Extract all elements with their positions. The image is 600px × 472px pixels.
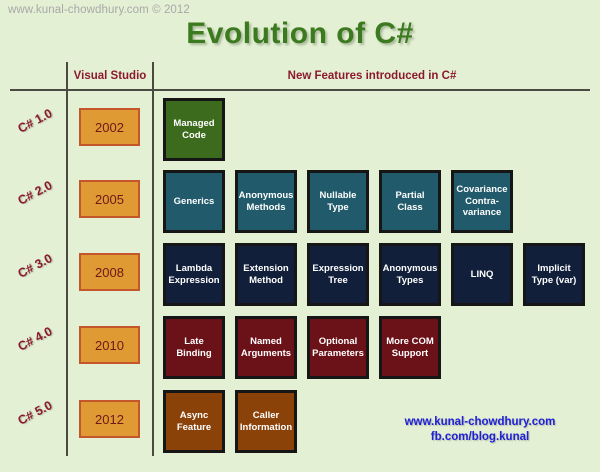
- feature-box-line: Anonymous: [239, 190, 294, 202]
- year-box: 2005: [79, 180, 140, 218]
- year-box: 2008: [79, 253, 140, 291]
- feature-box: CallerInformation: [235, 390, 297, 453]
- feature-box-line: Anonymous: [383, 263, 438, 275]
- feature-box: ExtensionMethod: [235, 243, 297, 306]
- version-row: C# 3.02008LambdaExpressionExtensionMetho…: [0, 241, 600, 313]
- feature-box-line: Implicit: [532, 263, 577, 275]
- version-label: C# 5.0: [6, 393, 64, 433]
- feature-box-line: Methods: [239, 202, 294, 214]
- feature-box: More COMSupport: [379, 316, 441, 379]
- column-header-visual-studio: Visual Studio: [68, 70, 152, 82]
- feature-box: ImplicitType (var): [523, 243, 585, 306]
- feature-box: NullableType: [307, 170, 369, 233]
- version-row: C# 4.02010LateBindingNamedArgumentsOptio…: [0, 314, 600, 386]
- infographic-canvas: www.kunal-chowdhury.com © 2012 Evolution…: [0, 0, 600, 472]
- feature-box: OptionalParameters: [307, 316, 369, 379]
- feature-box: AsyncFeature: [163, 390, 225, 453]
- feature-box-line: Extension: [243, 263, 288, 275]
- feature-box: NamedArguments: [235, 316, 297, 379]
- feature-box-line: Expression: [168, 275, 219, 287]
- feature-box: PartialClass: [379, 170, 441, 233]
- version-label: C# 2.0: [6, 173, 64, 213]
- feature-box-line: Type: [320, 202, 357, 214]
- feature-box: ManagedCode: [163, 98, 225, 161]
- feature-box-line: Parameters: [312, 348, 364, 360]
- page-title: Evolution of C#: [0, 17, 600, 51]
- feature-box: LambdaExpression: [163, 243, 225, 306]
- version-label: C# 4.0: [6, 319, 64, 359]
- feature-box: CovarianceContra-variance: [451, 170, 513, 233]
- feature-box: AnonymousMethods: [235, 170, 297, 233]
- feature-box-line: Method: [243, 275, 288, 287]
- feature-box: Generics: [163, 170, 225, 233]
- feature-box-line: Nullable: [320, 190, 357, 202]
- feature-box: AnonymousTypes: [379, 243, 441, 306]
- feature-box-line: Async: [177, 410, 211, 422]
- feature-box-line: Covariance: [456, 184, 507, 196]
- feature-box-line: Binding: [176, 348, 211, 360]
- feature-box: LateBinding: [163, 316, 225, 379]
- feature-box-line: Code: [173, 130, 214, 142]
- feature-box-line: Arguments: [241, 348, 291, 360]
- feature-box-line: More COM: [386, 336, 434, 348]
- feature-box-line: Class: [395, 202, 424, 214]
- feature-box-line: Types: [383, 275, 438, 287]
- version-label: C# 3.0: [6, 246, 64, 286]
- version-row: C# 2.02005GenericsAnonymousMethodsNullab…: [0, 168, 600, 240]
- feature-box-line: LINQ: [471, 269, 494, 281]
- header-divider-line: [10, 89, 590, 91]
- feature-box-line: variance: [456, 207, 507, 219]
- feature-box-line: Lambda: [168, 263, 219, 275]
- feature-box-line: Feature: [177, 422, 211, 434]
- feature-box-line: Caller: [240, 410, 292, 422]
- footer-website-link[interactable]: www.kunal-chowdhury.com: [370, 415, 590, 430]
- year-box: 2002: [79, 108, 140, 146]
- feature-box-line: Optional: [312, 336, 364, 348]
- year-box: 2010: [79, 326, 140, 364]
- version-row: C# 1.02002ManagedCode: [0, 96, 600, 168]
- feature-box-line: Expression: [312, 263, 363, 275]
- feature-box-line: Contra-: [456, 196, 507, 208]
- feature-box-line: Support: [386, 348, 434, 360]
- watermark-text: www.kunal-chowdhury.com © 2012: [8, 4, 190, 16]
- feature-box-line: Type (var): [532, 275, 577, 287]
- feature-box-line: Partial: [395, 190, 424, 202]
- version-label: C# 1.0: [6, 101, 64, 141]
- feature-box-line: Late: [176, 336, 211, 348]
- feature-box-line: Tree: [312, 275, 363, 287]
- feature-box-line: Managed: [173, 118, 214, 130]
- column-header-new-features: New Features introduced in C#: [154, 70, 590, 82]
- footer-facebook-link[interactable]: fb.com/blog.kunal: [370, 430, 590, 445]
- feature-box-line: Generics: [174, 196, 215, 208]
- footer-links: www.kunal-chowdhury.com fb.com/blog.kuna…: [370, 415, 590, 445]
- feature-box: LINQ: [451, 243, 513, 306]
- feature-box-line: Information: [240, 422, 292, 434]
- year-box: 2012: [79, 400, 140, 438]
- feature-box: ExpressionTree: [307, 243, 369, 306]
- feature-box-line: Named: [241, 336, 291, 348]
